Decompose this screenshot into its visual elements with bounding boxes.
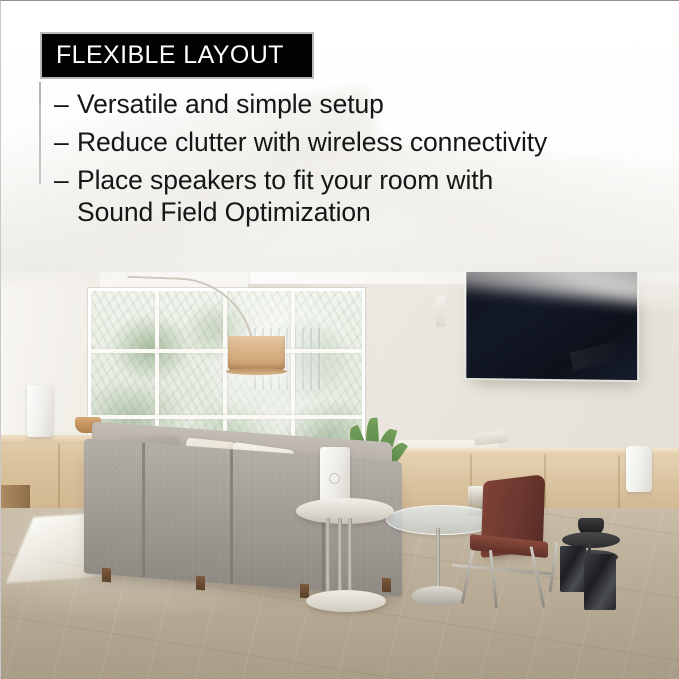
bullet-text: Versatile and simple setup [77,88,654,120]
bullet-dash-icon: – [54,88,77,120]
copper-pendant-lamp-shade [228,336,285,370]
feature-bullet-list: – Versatile and simple setup – Reduce cl… [54,88,654,234]
list-item: – Place speakers to fit your room with S… [54,164,654,228]
sofa-module-seam [142,443,145,578]
window-transom [91,415,362,419]
sofa-leg [102,568,111,583]
side-table-base [306,590,386,612]
side-table-leg [348,518,352,598]
title-banner: FLEXIBLE LAYOUT [40,32,314,79]
bullet-text: Reduce clutter with wireless connectivit… [77,126,654,158]
wall-sconce [436,295,445,327]
list-item: – Reduce clutter with wireless connectiv… [54,126,654,158]
pendant-lamp-cord [39,82,41,184]
sofa-leg [382,578,391,593]
glass-table-stem [436,528,440,594]
living-room-photo [0,250,679,679]
bullet-text: Place speakers to fit your room with Sou… [77,164,654,228]
bullet-text-line-2: Sound Field Optimization [77,196,654,228]
glass-table-base [412,586,464,606]
bullet-text-line-1: Place speakers to fit your room with [77,165,493,195]
bullet-dash-icon: – [54,164,77,196]
sofa-module-seam [230,449,233,584]
left-wireless-speaker [27,385,53,437]
right-wireless-speaker [626,446,652,492]
round-side-table-top [296,498,394,524]
side-table-leg [326,518,330,598]
sofa-leg [196,576,205,591]
page-title: FLEXIBLE LAYOUT [56,43,284,68]
marble-plinth-speaker [584,554,616,610]
list-item: – Versatile and simple setup [54,88,654,120]
bullet-dash-icon: – [54,126,77,158]
marble-plinth-speaker [560,546,586,592]
product-feature-image: FLEXIBLE LAYOUT – Versatile and simple s… [0,0,679,679]
side-table-leg [338,518,342,598]
title-banner-fill: FLEXIBLE LAYOUT [42,34,312,77]
